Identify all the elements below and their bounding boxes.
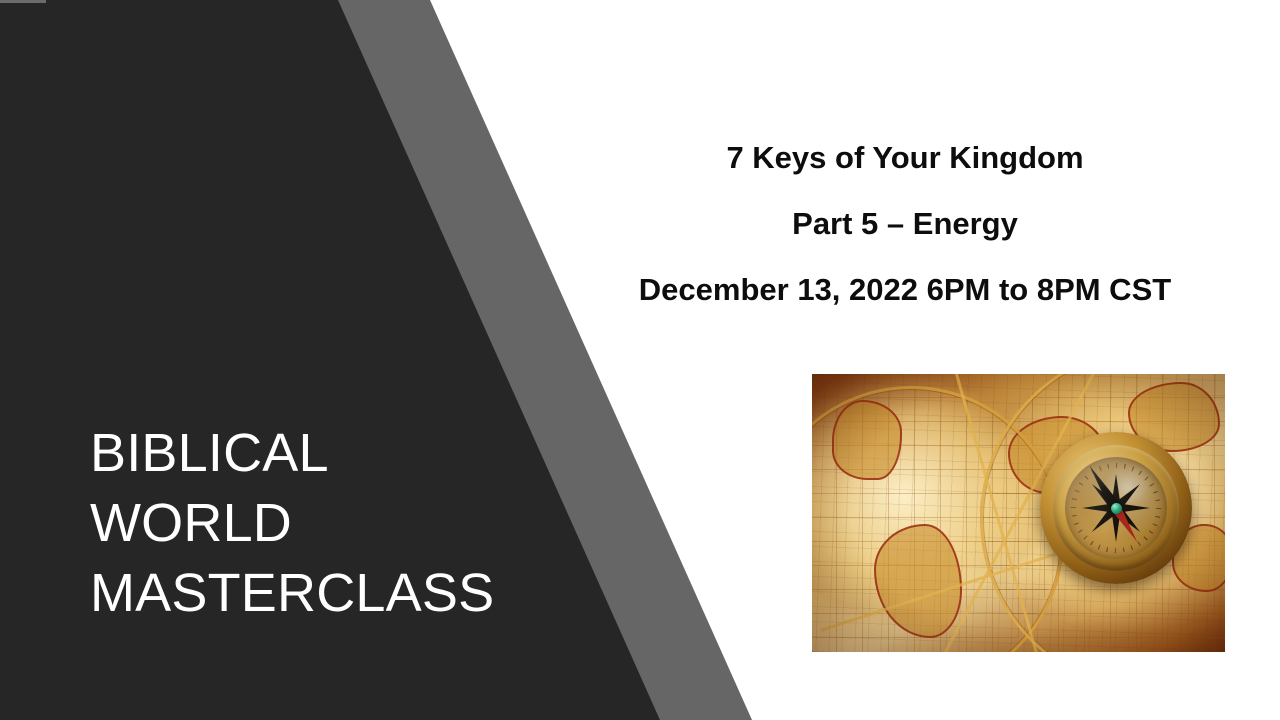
slide-subtitle: Part 5 – Energy bbox=[560, 206, 1250, 242]
map-vignette-overlay bbox=[812, 374, 1225, 652]
brand-title: BIBLICAL WORLD MASTERCLASS bbox=[90, 418, 520, 628]
slide-heading-block: 7 Keys of Your Kingdom Part 5 – Energy D… bbox=[560, 140, 1250, 308]
presentation-slide: BIBLICAL WORLD MASTERCLASS 7 Keys of You… bbox=[0, 0, 1280, 720]
slide-title: 7 Keys of Your Kingdom bbox=[560, 140, 1250, 176]
antique-world-map-compass-image bbox=[812, 374, 1225, 652]
top-left-accent-sliver bbox=[0, 0, 46, 3]
slide-date-time: December 13, 2022 6PM to 8PM CST bbox=[560, 272, 1250, 308]
